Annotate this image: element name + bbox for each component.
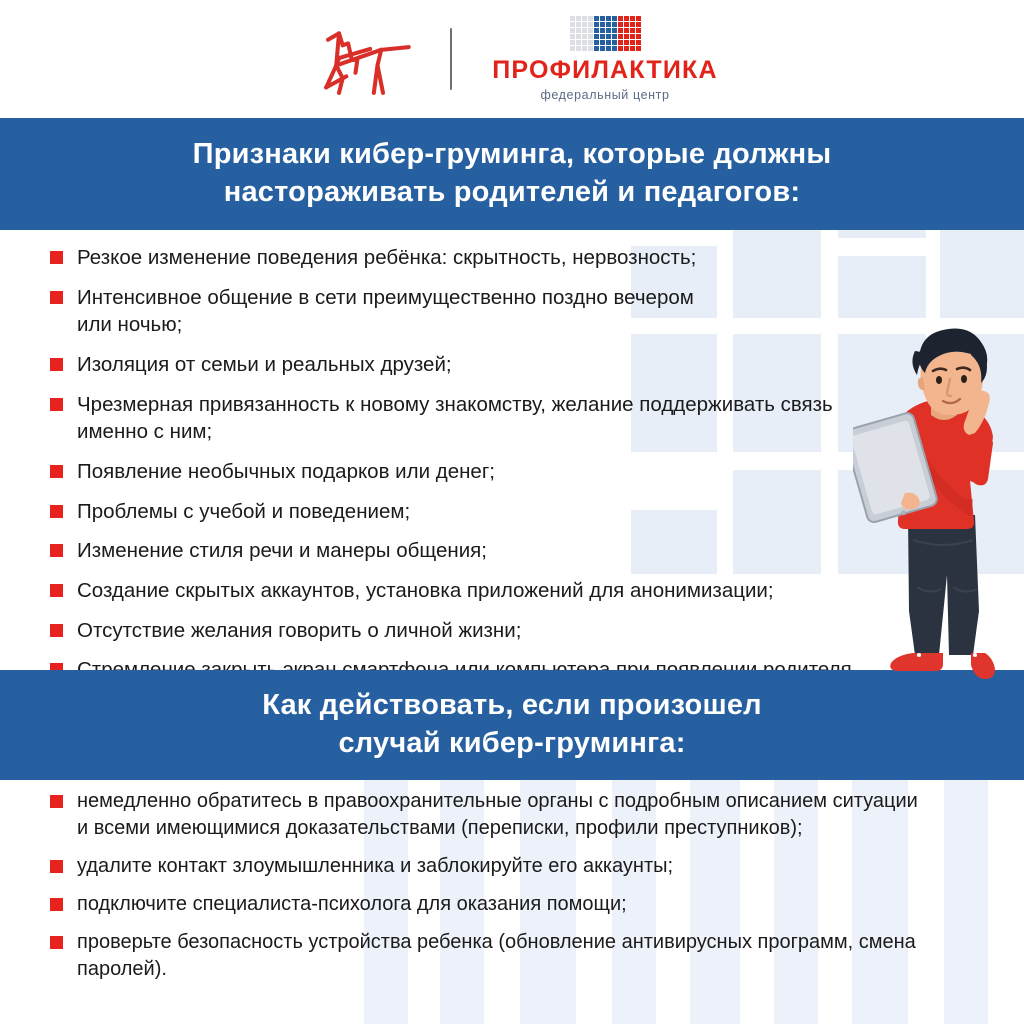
bullet-square-icon [50, 624, 63, 637]
vertical-divider-icon [450, 28, 452, 90]
bullet-square-icon [50, 358, 63, 371]
list-item-text: подключите специалиста-психолога для ока… [77, 891, 627, 918]
list-item-text: Резкое изменение поведения ребёнка: скры… [77, 244, 696, 272]
list-item: Появление необычных подарков или денег; [50, 458, 910, 486]
bullet-square-icon [50, 465, 63, 478]
bullet-square-icon [50, 398, 63, 411]
heading-line: Как действовать, если произошел [262, 687, 762, 725]
bullet-square-icon [50, 898, 63, 911]
list-item: немедленно обратитесь в правоохранительн… [50, 788, 940, 842]
brand-lockup: ПРОФИЛАКТИКА федеральный центр [492, 16, 718, 102]
heading-line: настораживать родителей и педагогов: [224, 174, 800, 212]
list-item: удалите контакт злоумышленника и заблоки… [50, 853, 940, 880]
list-item: Чрезмерная привязанность к новому знаком… [50, 391, 910, 446]
list-item: Интенсивное общение в сети преимуществен… [50, 284, 910, 339]
list-item: Создание скрытых аккаунтов, установка пр… [50, 577, 910, 605]
section-heading-actions: Как действовать, если произошел случай к… [0, 670, 1024, 780]
list-item: Изоляция от семьи и реальных друзей; [50, 351, 910, 379]
brand-header: ПРОФИЛАКТИКА федеральный центр [0, 0, 1024, 118]
chair-line-art-icon [306, 19, 416, 99]
bullet-square-icon [50, 936, 63, 949]
list-item: Проблемы с учебой и поведением; [50, 498, 910, 526]
list-item-text: удалите контакт злоумышленника и заблоки… [77, 853, 673, 880]
list-item-text: Отсутствие желания говорить о личной жиз… [77, 617, 521, 645]
list-item: Резкое изменение поведения ребёнка: скры… [50, 244, 910, 272]
brand-subtitle: федеральный центр [540, 88, 669, 102]
actions-list: немедленно обратитесь в правоохранительн… [50, 788, 940, 994]
list-item-text: Изменение стиля речи и манеры общения; [77, 537, 487, 565]
bullet-square-icon [50, 291, 63, 304]
list-item-text: проверьте безопасность устройства ребенк… [77, 929, 917, 983]
bullet-square-icon [50, 860, 63, 873]
bullet-square-icon [50, 584, 63, 597]
heading-line: Признаки кибер-груминга, которые должны [193, 136, 832, 174]
list-item-text: Проблемы с учебой и поведением; [77, 498, 410, 526]
section-heading-signs: Признаки кибер-груминга, которые должны … [0, 118, 1024, 230]
list-item-text: Интенсивное общение в сети преимуществен… [77, 284, 717, 339]
heading-line: случай кибер-груминга: [338, 725, 685, 763]
list-item-text: Изоляция от семьи и реальных друзей; [77, 351, 452, 379]
list-item-text: Чрезмерная привязанность к новому знаком… [77, 391, 907, 446]
list-item: Изменение стиля речи и манеры общения; [50, 537, 910, 565]
bullet-square-icon [50, 544, 63, 557]
list-item-text: Появление необычных подарков или денег; [77, 458, 495, 486]
list-item: подключите специалиста-психолога для ока… [50, 891, 940, 918]
signs-list: Резкое изменение поведения ребёнка: скры… [50, 244, 910, 696]
list-item-text: немедленно обратитесь в правоохранительн… [77, 788, 927, 842]
brand-name: ПРОФИЛАКТИКА [492, 58, 718, 83]
bullet-square-icon [50, 795, 63, 808]
list-item-text: Создание скрытых аккаунтов, установка пр… [77, 577, 774, 605]
bullet-square-icon [50, 505, 63, 518]
list-item: Отсутствие желания говорить о личной жиз… [50, 617, 910, 645]
tricolor-pixel-grid-icon [570, 16, 641, 51]
infographic-page: ПРОФИЛАКТИКА федеральный центр Признаки … [0, 0, 1024, 1024]
list-item: проверьте безопасность устройства ребенк… [50, 929, 940, 983]
bullet-square-icon [50, 251, 63, 264]
